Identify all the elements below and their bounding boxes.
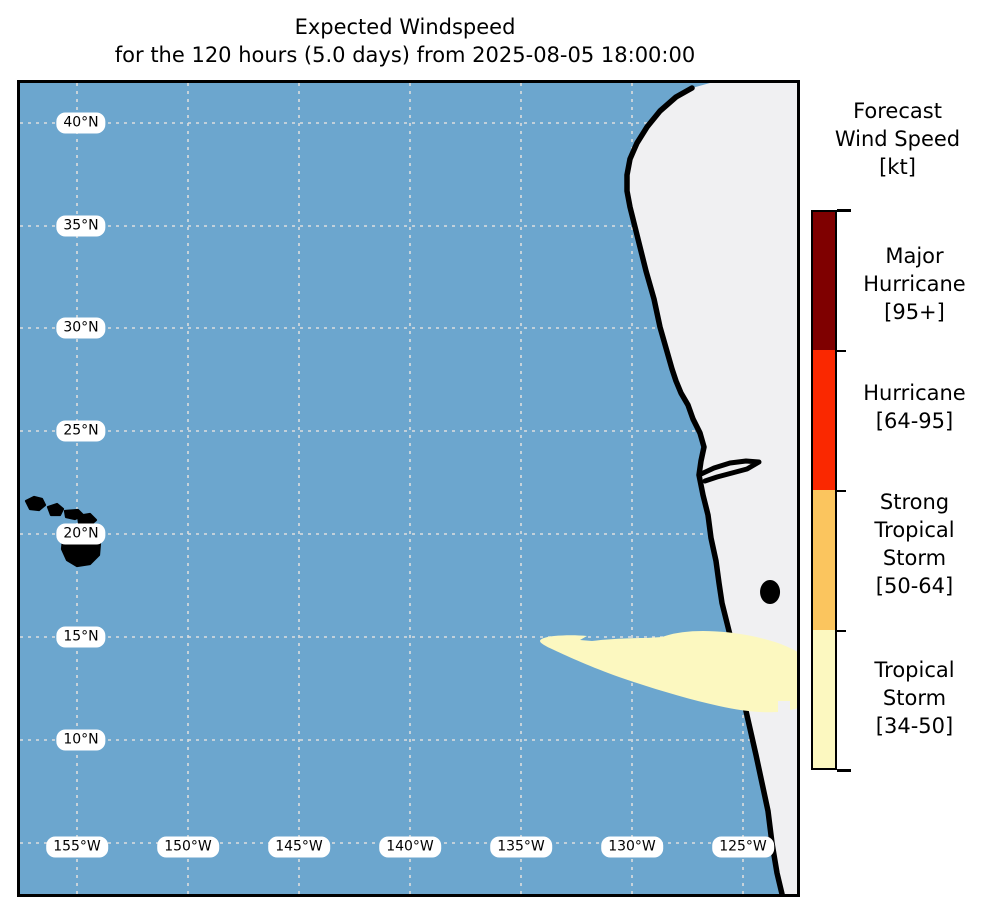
label-text-major-hurricane: Major Hurricane [95+] [863,244,965,324]
lon-label-155w: 155°W [46,837,108,858]
colorbar-title-line-3: [kt] [879,155,916,179]
lat-label-25n: 25°N [56,421,105,442]
colorbar-segment-strong-tropical-storm[interactable] [811,490,837,630]
lon-label-140w: 140°W [379,837,441,858]
label-text-tropical-storm: Tropical Storm [34-50] [874,658,954,738]
lon-label-125w: 125°W [712,837,774,858]
map-graphics [20,83,797,894]
colorbar-tick-top [837,209,851,212]
lon-label-145w: 145°W [268,837,330,858]
map-inner: 40°N 35°N 30°N 25°N 20°N 15°N 10°N 155°W… [20,83,797,894]
colorbar-tick-bottom [837,769,851,772]
colorbar-tick-50 [837,630,846,632]
lat-label-10n: 10°N [56,730,105,751]
title-line-1: Expected Windspeed [295,15,516,39]
colorbar-label-major-hurricane: Major Hurricane [95+] [840,243,989,327]
colorbar-tick-95 [837,350,846,352]
lat-label-30n: 30°N [56,318,105,339]
title-line-2: for the 120 hours (5.0 days) from 2025-0… [115,43,695,67]
colorbar-title-line-2: Wind Speed [835,127,960,151]
colorbar-label-strong-tropical-storm: Strong Tropical Storm [50-64] [840,489,989,601]
colorbar[interactable] [811,210,837,770]
colorbar-title: Forecast Wind Speed [kt] [806,98,989,182]
label-text-hurricane: Hurricane [64-95] [863,381,965,433]
map-canvas[interactable]: 40°N 35°N 30°N 25°N 20°N 15°N 10°N 155°W… [17,80,800,897]
colorbar-segment-hurricane[interactable] [811,350,837,490]
page-title: Expected Windspeed for the 120 hours (5.… [0,14,810,69]
colorbar-segment-tropical-storm[interactable] [811,630,837,770]
colorbar-segment-major-hurricane[interactable] [811,210,837,350]
lat-label-15n: 15°N [56,627,105,648]
lon-label-135w: 135°W [490,837,552,858]
lon-label-150w: 150°W [157,837,219,858]
colorbar-label-tropical-storm: Tropical Storm [34-50] [840,657,989,741]
lon-label-130w: 130°W [601,837,663,858]
colorbar-label-hurricane: Hurricane [64-95] [840,380,989,436]
coastline-baja-tip [760,580,780,604]
lat-label-35n: 35°N [56,216,105,237]
colorbar-title-line-1: Forecast [853,99,942,123]
lat-label-20n: 20°N [56,524,105,545]
label-text-strong-tropical-storm: Strong Tropical Storm [50-64] [874,490,954,598]
lat-label-40n: 40°N [56,113,105,134]
